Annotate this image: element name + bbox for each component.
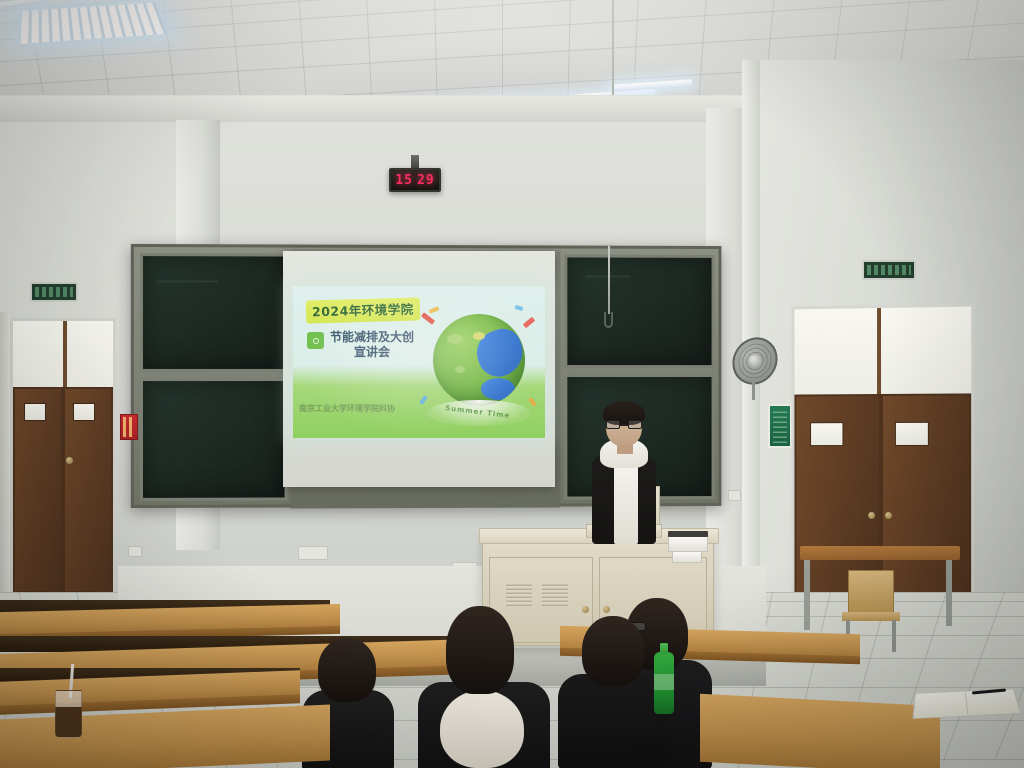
- right-door-window-a: [810, 422, 843, 446]
- wall-mounted-fan[interactable]: [732, 338, 778, 384]
- clock-minutes: 29: [417, 173, 435, 188]
- right-door-handle-a[interactable]: [868, 512, 875, 519]
- blackboard-panel-top-left[interactable]: [140, 253, 288, 372]
- fan-hub: [749, 355, 761, 367]
- exit-sign-right: [862, 260, 916, 280]
- projector-hook: [604, 312, 613, 328]
- presenter: [578, 404, 670, 544]
- blackboard-panel-bottom-left[interactable]: [140, 378, 288, 501]
- wall-plate-center: [298, 546, 328, 560]
- side-chair-back[interactable]: [848, 570, 894, 616]
- clock-mount: [411, 155, 419, 169]
- small-box[interactable]: [672, 551, 702, 563]
- slide-subtitle-row: 节能减排及大创 宣讲会: [307, 330, 414, 360]
- right-door-transom: [794, 307, 971, 401]
- left-wall-return: [0, 312, 10, 612]
- projection-screen[interactable]: Summer Time 2024年环境学院 节能减排及大创 宣讲会 南京工业大学…: [283, 251, 555, 487]
- globe-ocean-region-2: [481, 378, 515, 400]
- side-desk[interactable]: [800, 546, 960, 560]
- lectern-vent-left: [506, 584, 532, 606]
- side-desk-leg-left: [804, 560, 810, 630]
- side-desk-leg-right: [946, 560, 952, 626]
- student-cream-hoodie: [418, 606, 550, 768]
- iced-coffee-cup[interactable]: [55, 690, 82, 738]
- slide-footer-band: 南京工业大学环境学院科协: [293, 401, 445, 416]
- left-door-leaf-b[interactable]: [63, 387, 113, 593]
- left-door-leaf-a[interactable]: [13, 387, 63, 593]
- green-soda-bottle[interactable]: [654, 652, 674, 714]
- lectern-vent-left-2: [542, 584, 568, 606]
- green-info-board: [768, 404, 792, 448]
- wall-socket-back[interactable]: [128, 546, 142, 557]
- right-door-handle-b[interactable]: [885, 512, 892, 519]
- lecture-hall-photo: 15 29: [0, 0, 1024, 768]
- projector-drop-cable: [608, 246, 610, 314]
- exit-sign-left: [30, 282, 78, 302]
- bottle-label: [654, 674, 674, 690]
- left-door-window-a: [24, 403, 46, 421]
- slide-title: 2024年环境学院: [312, 302, 414, 320]
- blackboard-panel-top-right[interactable]: [564, 254, 714, 368]
- wall-soffit: [0, 96, 760, 122]
- wall-socket-right[interactable]: [728, 490, 741, 501]
- clock-hours: 15: [395, 173, 413, 188]
- paper-stack-dark-edge: [668, 531, 708, 537]
- presentation-slide: Summer Time 2024年环境学院 节能减排及大创 宣讲会 南京工业大学…: [293, 286, 545, 438]
- lectern-handle-left[interactable]: [582, 606, 589, 613]
- presenter-glasses-icon: [606, 420, 642, 429]
- left-double-door[interactable]: [10, 318, 116, 596]
- bench-right-front[interactable]: [700, 694, 940, 768]
- slide-footer-text: 南京工业大学环境学院科协: [293, 401, 445, 416]
- presenter-hoodie-body: [614, 460, 638, 544]
- paper-stack[interactable]: [668, 536, 708, 552]
- left-door-transom: [13, 321, 113, 393]
- fan-arm: [752, 378, 755, 400]
- right-door-window-b: [895, 422, 929, 446]
- left-door-window-b: [73, 403, 95, 421]
- red-notice-sign: [120, 414, 138, 440]
- student-head-2: [446, 606, 514, 694]
- student-head-1: [318, 638, 376, 702]
- slide-title-highlight: 2024年环境学院: [306, 297, 420, 323]
- right-door-leaf-b[interactable]: [881, 393, 971, 609]
- student-hood-2: [440, 690, 524, 768]
- student-head-3: [582, 616, 644, 686]
- slide-subtitle-line1: 节能减排及大创: [330, 330, 414, 345]
- left-door-handle[interactable]: [66, 457, 73, 464]
- circle-badge-icon: [307, 332, 324, 349]
- wall-digital-clock: 15 29: [389, 168, 441, 192]
- globe-sphere: [433, 314, 525, 406]
- slide-subtitle-line2: 宣讲会: [330, 345, 414, 360]
- side-chair-leg-right: [892, 620, 896, 652]
- open-notebook[interactable]: [912, 689, 1021, 719]
